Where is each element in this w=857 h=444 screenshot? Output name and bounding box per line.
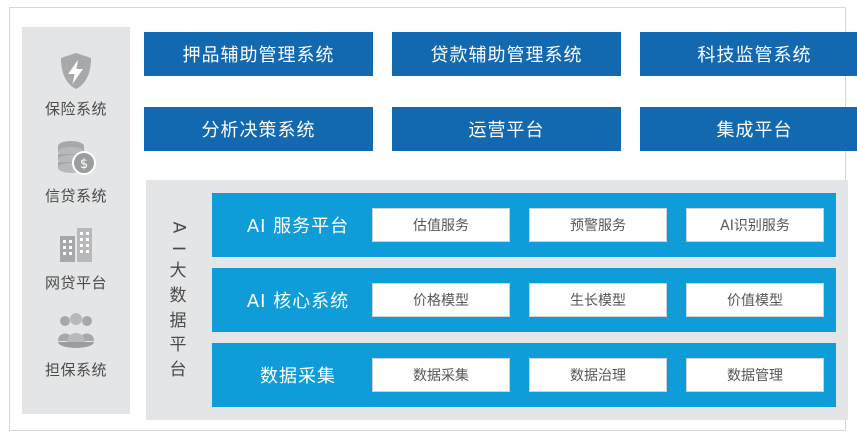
platform-cell-value-model[interactable]: 价值模型 — [686, 283, 824, 317]
sidebar-item-credit[interactable]: $ 信贷系统 — [22, 136, 130, 206]
platform-cell-valuation-service[interactable]: 估值服务 — [372, 208, 510, 242]
vertical-label-char: 据 — [170, 310, 187, 333]
platform-vertical-label: A I 大 数 据 平 台 — [156, 192, 200, 408]
platform-cell-price-model[interactable]: 价格模型 — [372, 283, 510, 317]
platform-cell-data-collection[interactable]: 数据采集 — [372, 358, 510, 392]
platform-row-cells: 数据采集 数据治理 数据管理 — [372, 358, 824, 392]
top-systems-row-1: 押品辅助管理系统 贷款辅助管理系统 科技监管系统 — [144, 32, 857, 76]
shield-bolt-icon — [53, 49, 99, 93]
sidebar-item-label: 网贷平台 — [45, 272, 107, 293]
sidebar-item-online-lending[interactable]: 网贷平台 — [22, 223, 130, 293]
platform-cell-alert-service[interactable]: 预警服务 — [529, 208, 667, 242]
ai-bigdata-platform-panel: A I 大 数 据 平 台 AI 服务平台 估值服务 预警服务 AI识别服务 A… — [146, 180, 848, 420]
svg-text:$: $ — [80, 157, 88, 172]
system-button-operations-platform[interactable]: 运营平台 — [392, 107, 621, 151]
sidebar-item-insurance[interactable]: 保险系统 — [22, 49, 130, 119]
system-button-pledge-aux-mgmt[interactable]: 押品辅助管理系统 — [144, 32, 373, 76]
vertical-label-char: A — [169, 221, 186, 233]
platform-cell-growth-model[interactable]: 生长模型 — [529, 283, 667, 317]
sidebar-item-guarantee[interactable]: 担保系统 — [22, 310, 130, 380]
platform-cell-ai-recognition-service[interactable]: AI识别服务 — [686, 208, 824, 242]
platform-row-data-collection: 数据采集 数据采集 数据治理 数据管理 — [212, 343, 836, 407]
vertical-label-char: 平 — [170, 334, 187, 357]
vertical-label-char: 大 — [170, 260, 187, 283]
buildings-icon — [53, 223, 99, 267]
people-group-icon — [53, 310, 99, 354]
platform-row-ai-core: AI 核心系统 价格模型 生长模型 价值模型 — [212, 268, 836, 332]
diagram-frame: 保险系统 $ 信贷系统 — [9, 7, 846, 431]
system-button-integration-platform[interactable]: 集成平台 — [640, 107, 857, 151]
platform-cell-data-management[interactable]: 数据管理 — [686, 358, 824, 392]
platform-row-title: 数据采集 — [224, 362, 372, 388]
vertical-label-char: I — [169, 246, 186, 251]
coins-dollar-icon: $ — [53, 136, 99, 180]
system-button-loan-aux-mgmt[interactable]: 贷款辅助管理系统 — [392, 32, 621, 76]
top-systems-row-2: 分析决策系统 运营平台 集成平台 — [144, 107, 857, 151]
platform-row-ai-service: AI 服务平台 估值服务 预警服务 AI识别服务 — [212, 193, 836, 257]
vertical-label-char: 数 — [170, 285, 187, 308]
system-button-tech-supervision[interactable]: 科技监管系统 — [640, 32, 857, 76]
sidebar-item-label: 信贷系统 — [45, 185, 107, 206]
platform-row-cells: 估值服务 预警服务 AI识别服务 — [372, 208, 824, 242]
platform-rows: AI 服务平台 估值服务 预警服务 AI识别服务 AI 核心系统 价格模型 生长… — [212, 193, 836, 407]
system-button-analysis-decision[interactable]: 分析决策系统 — [144, 107, 373, 151]
platform-row-cells: 价格模型 生长模型 价值模型 — [372, 283, 824, 317]
sidebar: 保险系统 $ 信贷系统 — [22, 27, 130, 414]
platform-cell-data-governance[interactable]: 数据治理 — [529, 358, 667, 392]
platform-row-title: AI 核心系统 — [224, 287, 372, 313]
platform-row-title: AI 服务平台 — [224, 212, 372, 238]
vertical-label-char: 台 — [170, 359, 187, 382]
sidebar-item-label: 担保系统 — [45, 359, 107, 380]
sidebar-item-label: 保险系统 — [45, 98, 107, 119]
